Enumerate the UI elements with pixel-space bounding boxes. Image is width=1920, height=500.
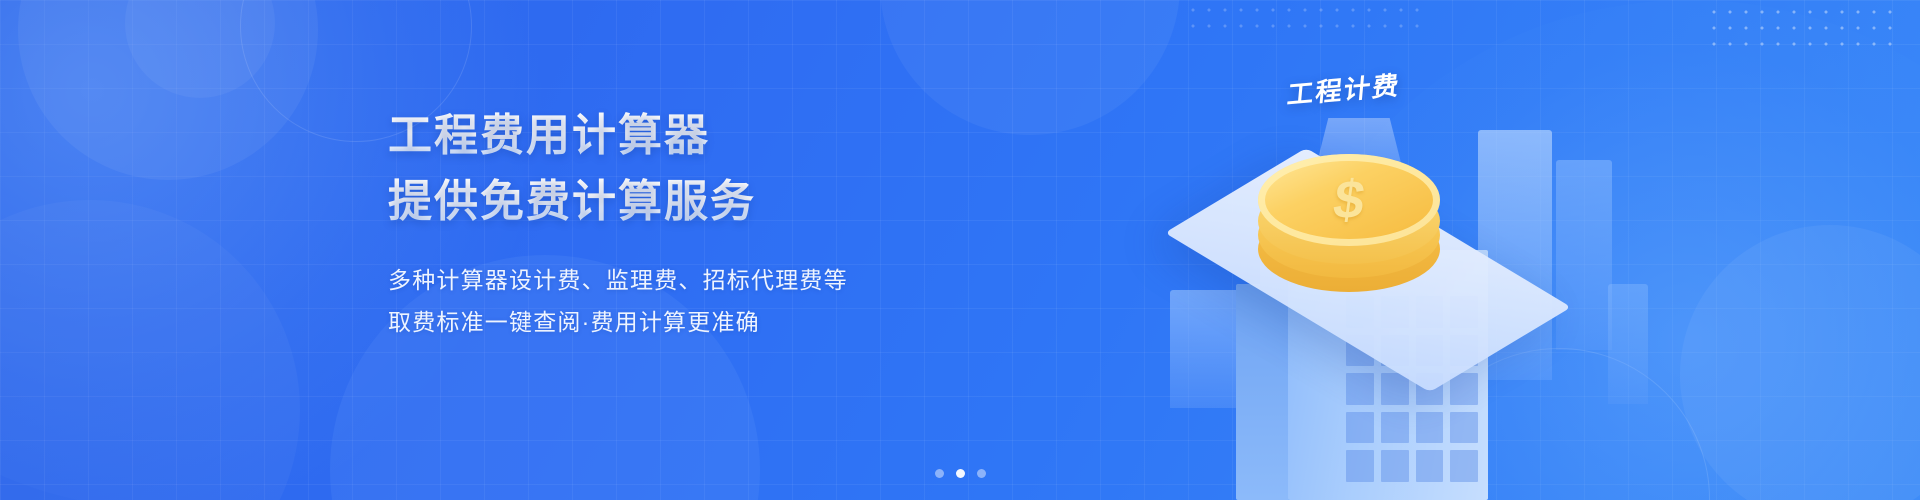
headline-line-1: 工程费用计算器 <box>388 108 948 164</box>
dot-matrix-pattern <box>1706 4 1896 50</box>
building-bar <box>1608 284 1648 404</box>
carousel-dot-3[interactable] <box>977 469 986 478</box>
banner-illustration: $ 工程计费 <box>1110 0 1670 500</box>
decor-circle <box>125 0 275 98</box>
dollar-sign-icon: $ <box>1252 154 1447 246</box>
decor-circle <box>0 200 300 500</box>
banner-copy: 工程费用计算器 提供免费计算服务 多种计算器设计费、监理费、招标代理费等 取费标… <box>388 108 948 342</box>
illustration-label: 工程计费 <box>1286 65 1403 112</box>
coin-stack-icon: $ <box>1258 148 1448 298</box>
decor-circle <box>18 0 318 180</box>
carousel-dots[interactable] <box>0 469 1920 478</box>
subtitle-line-1: 多种计算器设计费、监理费、招标代理费等 <box>388 260 948 300</box>
subtitle-line-2: 取费标准一键查阅·费用计算更准确 <box>388 302 948 342</box>
hero-banner: 工程费用计算器 提供免费计算服务 多种计算器设计费、监理费、招标代理费等 取费标… <box>0 0 1920 500</box>
tower-side <box>1236 284 1290 500</box>
carousel-dot-1[interactable] <box>935 469 944 478</box>
decor-circle <box>1680 225 1920 500</box>
building-bar <box>1556 160 1612 350</box>
headline-line-2: 提供免费计算服务 <box>388 174 948 230</box>
carousel-dot-2[interactable] <box>956 469 965 478</box>
